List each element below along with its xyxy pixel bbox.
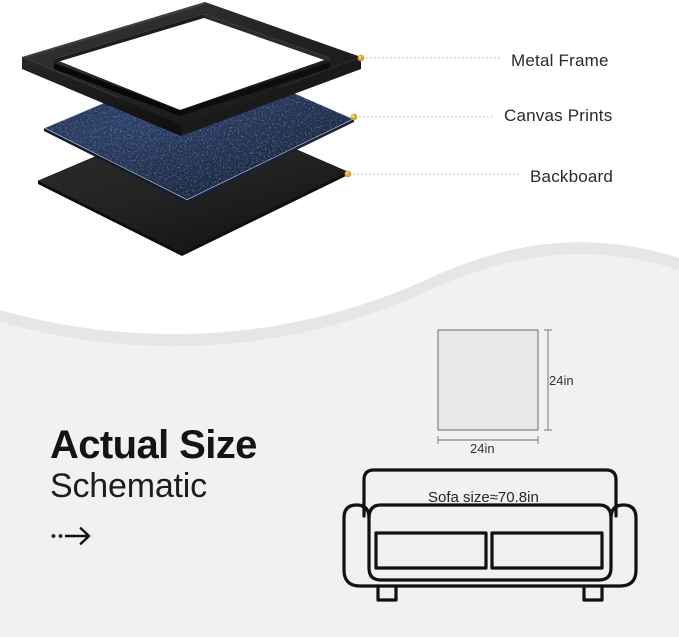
sofa-cushion-right	[492, 533, 602, 568]
dots-arrow-right-icon	[50, 523, 110, 549]
layer-label-canvas-prints: Canvas Prints	[504, 106, 612, 126]
artwork-dimension-schematic	[424, 322, 594, 462]
product-infographic-page: Metal Frame Canvas Prints Backboard Actu…	[0, 0, 679, 637]
dimension-label-height: 24in	[549, 373, 574, 388]
layer-label-metal-frame: Metal Frame	[511, 51, 609, 71]
sofa-cushion-left	[376, 533, 486, 568]
exploded-diagram	[0, 0, 679, 270]
layer-label-backboard: Backboard	[530, 167, 613, 187]
sofa-leg-left	[378, 586, 396, 600]
sofa-arm-left	[369, 505, 611, 518]
artwork-square	[438, 330, 538, 430]
dimension-label-width: 24in	[470, 441, 495, 456]
sofa-base	[344, 505, 636, 586]
sofa-size-label: Sofa size≈70.8in	[428, 489, 539, 506]
actual-size-heading-block: Actual Size Schematic	[50, 425, 330, 554]
connector-dot-backboard	[345, 171, 352, 178]
connector-dot-canvas-prints	[351, 114, 358, 121]
sofa-leg-right	[584, 586, 602, 600]
heading-actual-size: Actual Size	[50, 425, 330, 466]
leader-lines	[345, 55, 520, 178]
sofa-illustration	[340, 458, 640, 608]
connector-dot-metal-frame	[358, 55, 365, 62]
heading-schematic: Schematic	[50, 468, 330, 505]
